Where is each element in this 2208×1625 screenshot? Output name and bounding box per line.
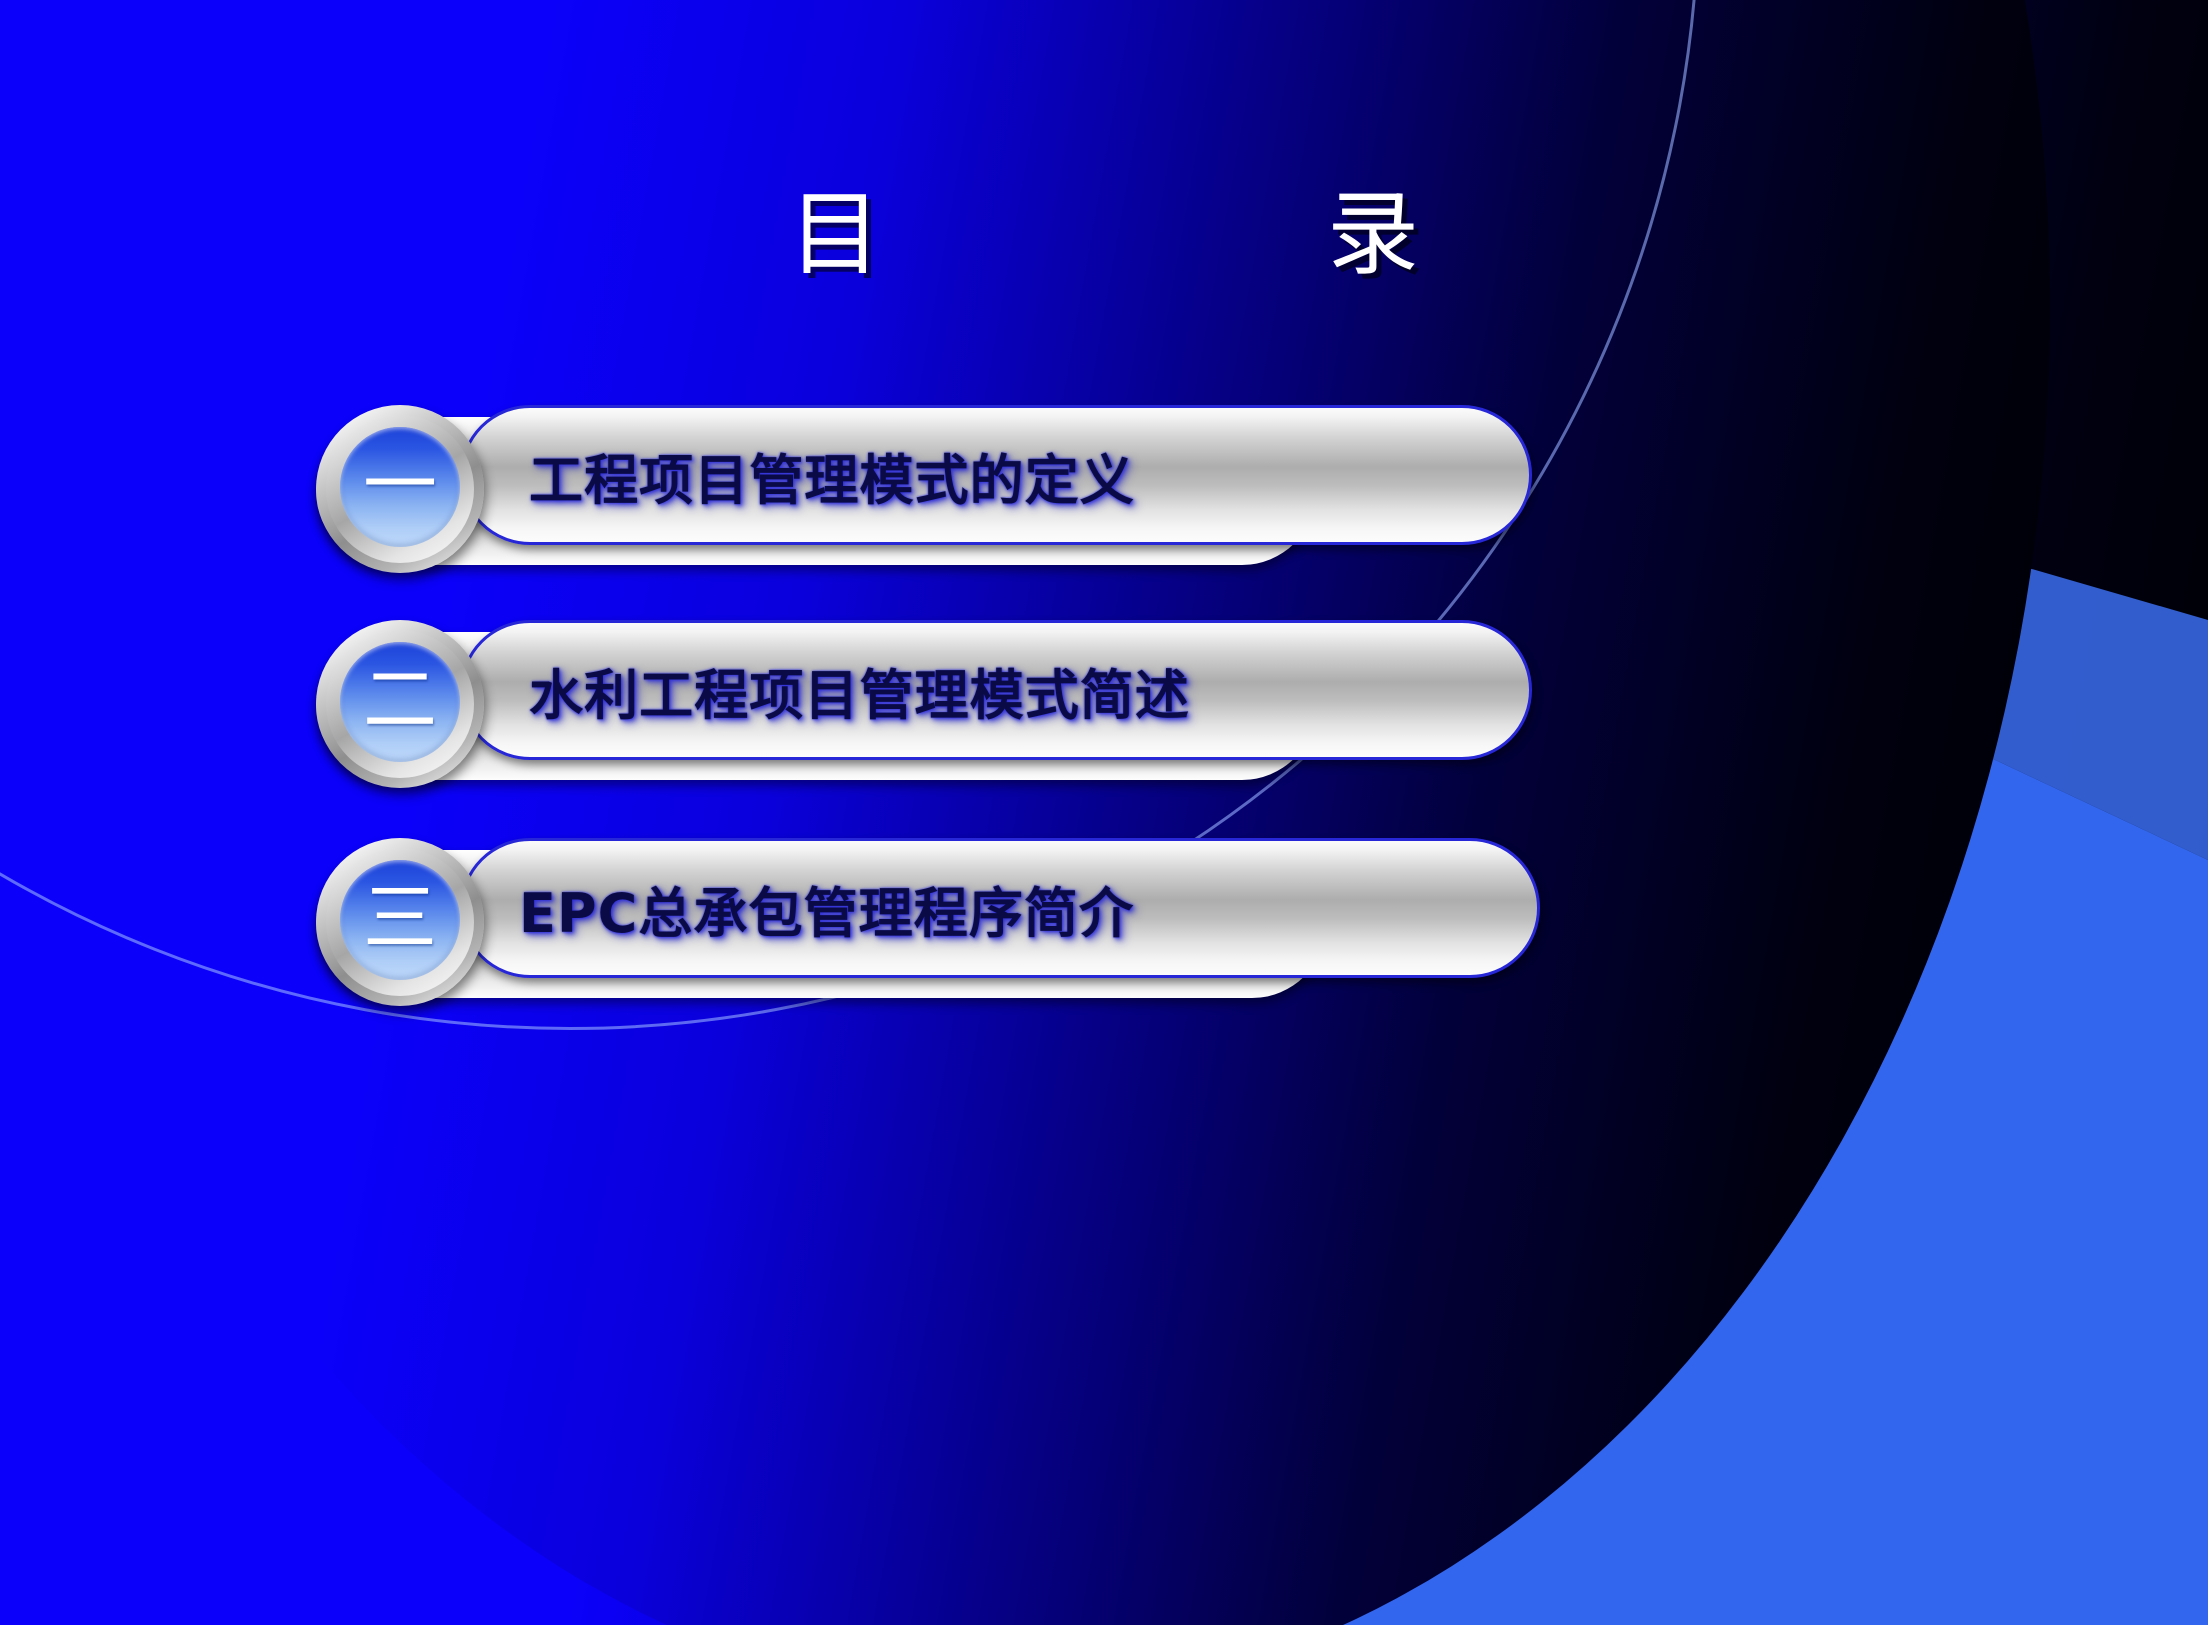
- agenda-label-2: 水利工程项目管理模式简述: [463, 651, 1190, 730]
- badge-blue-core-2: 二: [340, 642, 460, 762]
- agenda-pill-1[interactable]: 工程项目管理模式的定义: [460, 405, 1532, 545]
- agenda-number-1: 一: [363, 448, 437, 522]
- agenda-number-badge-1: 一: [316, 405, 484, 573]
- agenda-number-2: 二: [363, 663, 437, 737]
- presentation-slide: 目 录 工程项目管理模式的定义 一 水利工程项目管理模式简述: [0, 0, 2208, 1625]
- badge-blue-core-3: 三: [340, 860, 460, 980]
- agenda-number-badge-2: 二: [316, 620, 484, 788]
- agenda-number-3: 三: [363, 881, 437, 955]
- agenda-label-3: EPC总承包管理程序简介: [463, 869, 1134, 948]
- agenda-pill-2[interactable]: 水利工程项目管理模式简述: [460, 620, 1532, 760]
- agenda-list: 工程项目管理模式的定义 一 水利工程项目管理模式简述 二: [0, 0, 2208, 1625]
- agenda-number-badge-3: 三: [316, 838, 484, 1006]
- agenda-label-1: 工程项目管理模式的定义: [463, 436, 1135, 515]
- badge-blue-core-1: 一: [340, 427, 460, 547]
- agenda-pill-3[interactable]: EPC总承包管理程序简介: [460, 838, 1540, 978]
